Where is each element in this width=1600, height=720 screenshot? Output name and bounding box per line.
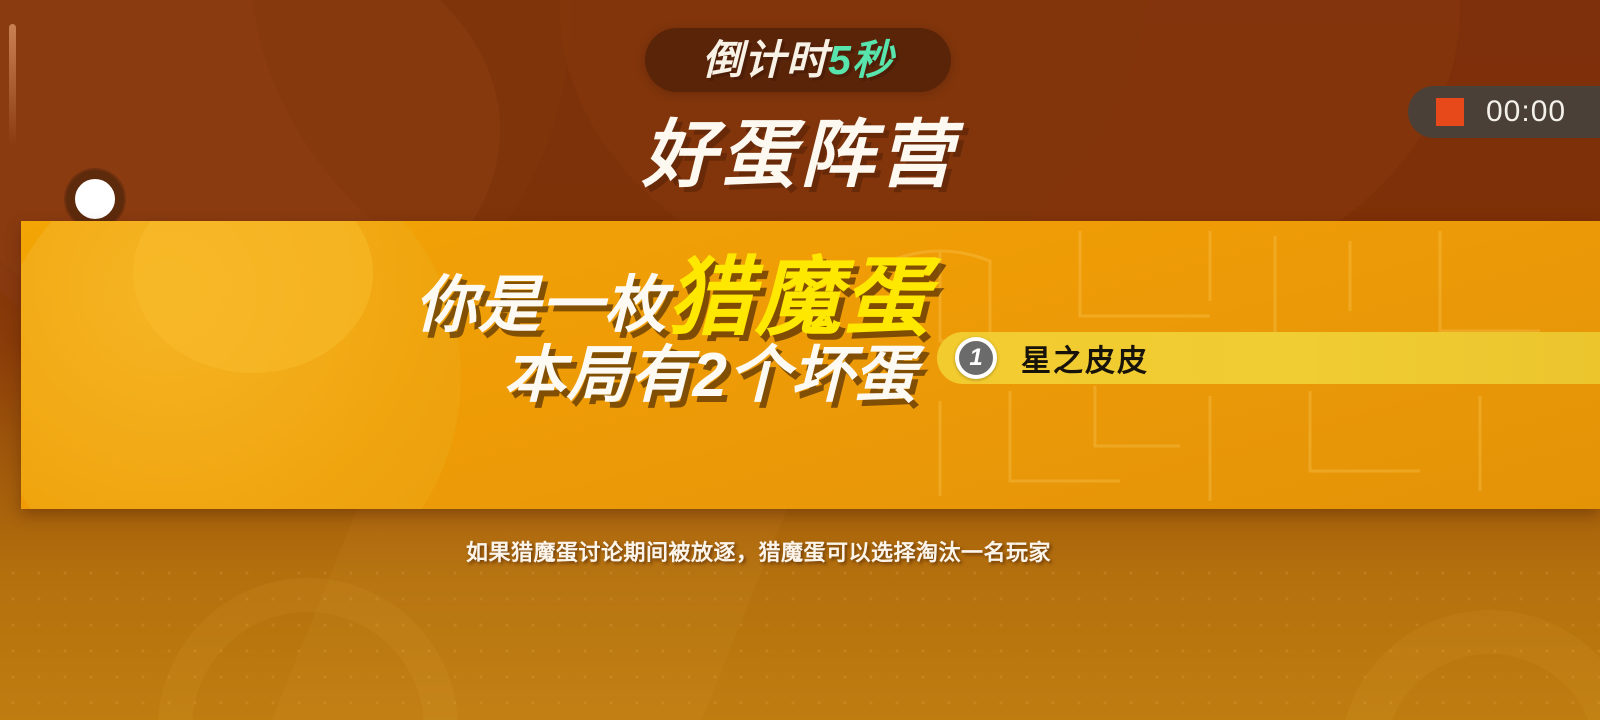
recording-timer: 00:00	[1486, 95, 1566, 129]
game-role-reveal-screen: 倒计时 5秒 好蛋阵营	[0, 0, 1600, 720]
corner-marker-dot	[66, 170, 124, 228]
background-dot-pattern	[0, 560, 1600, 720]
player-index-badge: 1	[955, 337, 997, 379]
recording-indicator[interactable]: 00:00	[1408, 86, 1600, 138]
player-name-strip[interactable]: 1 星之皮皮	[937, 332, 1600, 384]
countdown-value: 5秒	[828, 40, 894, 81]
background-wedge	[239, 500, 790, 720]
player-name: 星之皮皮	[1021, 336, 1149, 380]
bad-egg-count-text: 本局有2个坏蛋	[504, 341, 917, 410]
role-copy-block: 你是一枚 猎魔蛋 本局有2个坏蛋	[351, 255, 931, 407]
role-banner: 你是一枚 猎魔蛋 本局有2个坏蛋 1 星之皮皮	[21, 221, 1600, 509]
stop-square-icon[interactable]	[1436, 98, 1464, 126]
role-name-text: 猎魔蛋	[667, 255, 931, 341]
faction-title: 好蛋阵营	[0, 118, 1600, 192]
countdown-label: 倒计时	[702, 40, 828, 81]
background-ring	[1340, 610, 1600, 720]
countdown-badge: 倒计时 5秒	[645, 28, 951, 92]
background-ring	[158, 578, 458, 720]
role-description: 如果猎魔蛋讨论期间被放逐，猎魔蛋可以选择淘汰一名玩家	[466, 537, 1106, 569]
role-prefix-text: 你是一枚	[415, 275, 667, 337]
